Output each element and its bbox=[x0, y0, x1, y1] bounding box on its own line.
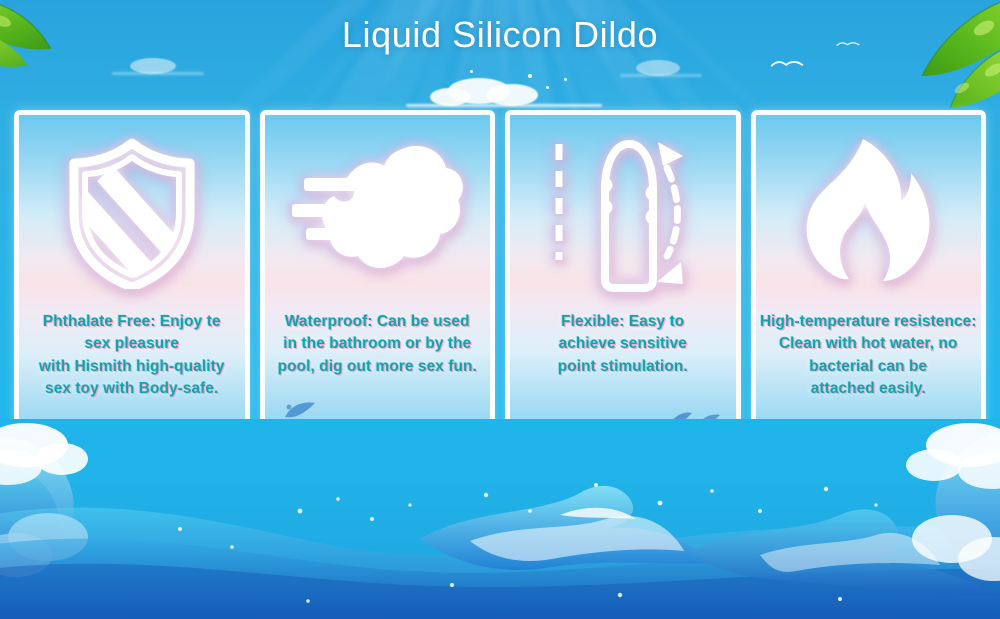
card-text-line: bacterial can be bbox=[760, 356, 977, 378]
page-title: Liquid Silicon Dildo bbox=[0, 14, 1000, 56]
card-text: High-temperature resistence: Clean with … bbox=[752, 311, 985, 401]
feature-card-waterproof[interactable]: Waterproof: Can be used in the bathroom … bbox=[260, 110, 496, 456]
flexible-toy-icon bbox=[545, 132, 701, 294]
cloud-decoration bbox=[406, 104, 602, 107]
sparkle-decoration bbox=[528, 74, 532, 78]
card-text-line: attached easily. bbox=[760, 378, 977, 400]
sparkle-decoration bbox=[470, 70, 473, 73]
feature-card-high-temperature[interactable]: High-temperature resistence: Clean with … bbox=[751, 110, 987, 460]
card-text-line: Phthalate Free: Enjoy te bbox=[39, 311, 224, 333]
sparkle-decoration bbox=[564, 78, 567, 81]
card-text-line: High-temperature resistence: bbox=[760, 311, 977, 333]
cloud-decoration bbox=[112, 72, 204, 75]
feature-card-list: Phthalate Free: Enjoy te sex pleasure wi… bbox=[14, 110, 986, 460]
card-text-line: sex toy with Body-safe. bbox=[39, 378, 224, 400]
card-text-line: in the bathroom or by the bbox=[278, 333, 477, 355]
cloud-decoration bbox=[620, 74, 702, 77]
feature-card-flexible[interactable]: Flexible: Easy to achieve sensitive poin… bbox=[505, 110, 741, 456]
card-text-line: sex pleasure bbox=[39, 333, 224, 355]
card-text-line: Flexible: Easy to bbox=[558, 311, 688, 333]
card-text-line: Waterproof: Can be used bbox=[278, 311, 477, 333]
card-icon-container bbox=[19, 115, 245, 311]
card-icon-container bbox=[756, 115, 982, 311]
card-text-line: Clean with hot water, no bbox=[760, 333, 977, 355]
card-text-line: achieve sensitive bbox=[558, 333, 688, 355]
sparkle-decoration bbox=[546, 86, 549, 89]
seagull-icon bbox=[770, 58, 804, 70]
promo-banner: Liquid Silicon Dildo bbox=[0, 0, 1000, 619]
card-text-line: point stimulation. bbox=[558, 356, 688, 378]
cloud-decoration bbox=[486, 84, 538, 106]
water-splash-icon bbox=[288, 138, 466, 288]
card-icon-container bbox=[510, 115, 736, 311]
shield-icon bbox=[64, 137, 200, 289]
feature-card-phthalate-free[interactable]: Phthalate Free: Enjoy te sex pleasure wi… bbox=[14, 110, 250, 460]
card-text-line: with Hismith high-quality bbox=[39, 356, 224, 378]
card-text-line: pool, dig out more sex fun. bbox=[278, 356, 477, 378]
card-text: Waterproof: Can be used in the bathroom … bbox=[270, 311, 485, 378]
flame-icon bbox=[793, 135, 943, 291]
card-text: Flexible: Easy to achieve sensitive poin… bbox=[550, 311, 696, 378]
card-text: Phthalate Free: Enjoy te sex pleasure wi… bbox=[31, 311, 232, 401]
card-icon-container bbox=[265, 115, 491, 311]
ocean-wave-illustration bbox=[0, 419, 1000, 619]
wave-shapes bbox=[0, 419, 1000, 619]
